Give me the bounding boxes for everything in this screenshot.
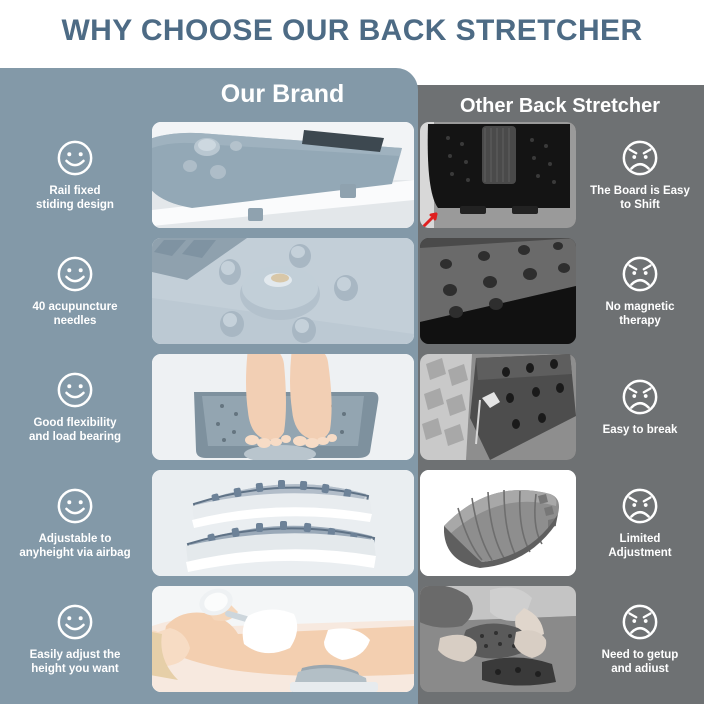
comparison-row: Adjustable to anyheight via airbag bbox=[0, 466, 704, 581]
other-product-image bbox=[420, 470, 576, 576]
smiley-face-icon bbox=[56, 255, 94, 293]
smiley-face-icon bbox=[56, 139, 94, 177]
comparison-row: Rail fixed stiding design bbox=[0, 118, 704, 233]
our-feature-label: Adjustable to anyheight via airbag bbox=[15, 532, 134, 560]
other-feature-label: Need to getup and adiust bbox=[598, 648, 683, 676]
our-feature-label: Rail fixed stiding design bbox=[32, 184, 118, 212]
other-feature-label: No magnetic therapy bbox=[601, 300, 678, 328]
our-feature-cell: Good flexibility and load bearing bbox=[0, 350, 150, 465]
sad-face-icon bbox=[621, 255, 659, 293]
comparison-row: Easily adjust the height you want bbox=[0, 582, 704, 697]
our-feature-cell: 40 acupuncture needles bbox=[0, 234, 150, 349]
other-feature-label: The Board is Easy to Shift bbox=[586, 184, 694, 212]
other-feature-cell: The Board is Easy to Shift bbox=[576, 118, 704, 233]
our-feature-cell: Easily adjust the height you want bbox=[0, 582, 150, 697]
our-feature-cell: Adjustable to anyheight via airbag bbox=[0, 466, 150, 581]
our-product-image bbox=[152, 238, 414, 344]
comparison-row: 40 acupuncture needles bbox=[0, 234, 704, 349]
other-feature-cell: No magnetic therapy bbox=[576, 234, 704, 349]
smiley-face-icon bbox=[56, 487, 94, 525]
other-product-image bbox=[420, 238, 576, 344]
our-feature-label: 40 acupuncture needles bbox=[29, 300, 122, 328]
our-feature-label: Good flexibility and load bearing bbox=[25, 416, 125, 444]
our-brand-heading: Our Brand bbox=[150, 80, 415, 109]
other-feature-cell: Limited Adjustment bbox=[576, 466, 704, 581]
smiley-face-icon bbox=[56, 603, 94, 641]
smiley-face-icon bbox=[56, 371, 94, 409]
sad-face-icon bbox=[621, 603, 659, 641]
other-product-image bbox=[420, 122, 576, 228]
our-feature-cell: Rail fixed stiding design bbox=[0, 118, 150, 233]
sad-face-icon bbox=[621, 487, 659, 525]
other-feature-label: Limited Adjustment bbox=[604, 532, 675, 560]
our-feature-label: Easily adjust the height you want bbox=[26, 648, 125, 676]
our-product-image bbox=[152, 470, 414, 576]
infographic-page: WHY CHOOSE OUR BACK STRETCHER Our Brand … bbox=[0, 0, 704, 704]
other-product-image bbox=[420, 586, 576, 692]
other-feature-label: Easy to break bbox=[599, 423, 682, 437]
page-title: WHY CHOOSE OUR BACK STRETCHER bbox=[0, 14, 704, 48]
other-feature-cell: Need to getup and adiust bbox=[576, 582, 704, 697]
other-feature-cell: Easy to break bbox=[576, 350, 704, 465]
our-product-image bbox=[152, 586, 414, 692]
our-product-image bbox=[152, 122, 414, 228]
sad-face-icon bbox=[621, 378, 659, 416]
our-product-image bbox=[152, 354, 414, 460]
other-brand-heading: Other Back Stretcher bbox=[420, 95, 700, 118]
other-product-image bbox=[420, 354, 576, 460]
comparison-row: Good flexibility and load bearing bbox=[0, 350, 704, 465]
sad-face-icon bbox=[621, 139, 659, 177]
